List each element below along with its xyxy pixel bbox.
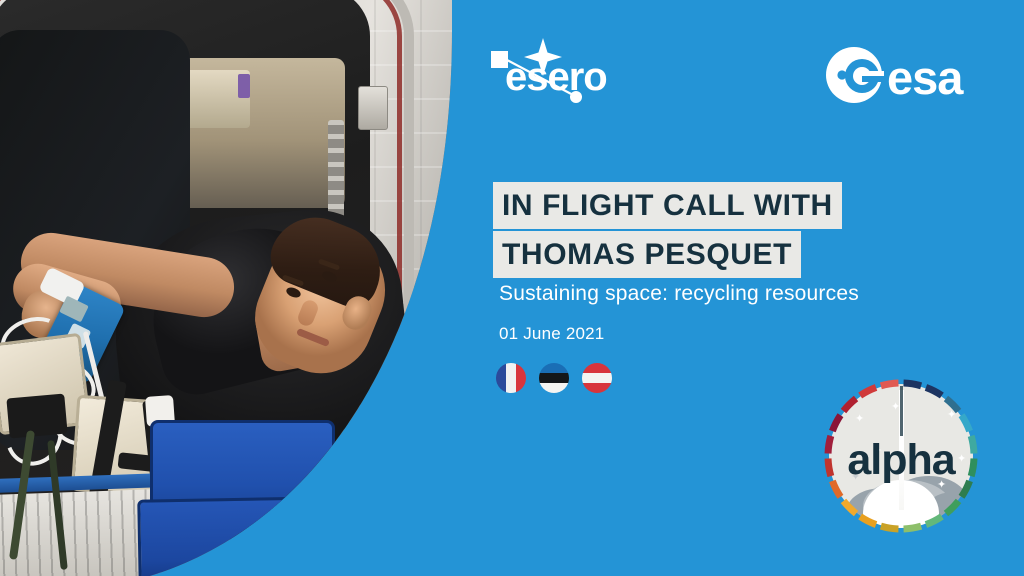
title-line-1-row: IN FLIGHT CALL WITH: [493, 182, 842, 229]
title-line-2: THOMAS PESQUET: [493, 231, 801, 278]
flag-austria: [582, 363, 612, 393]
patch-disc: alpha ✦ ✦ ✦ ✦ ✦ ✦ ✦ ✦: [829, 384, 973, 528]
astronaut-photo: [0, 0, 452, 576]
title-line-2-row: THOMAS PESQUET: [493, 231, 842, 278]
esa-wordmark: esa: [887, 51, 964, 104]
photo-clip: [0, 0, 452, 576]
blue-seat-cushion: [137, 496, 334, 576]
esa-logo[interactable]: esa: [825, 46, 985, 104]
presentation-slide: esero esa IN F: [0, 0, 1024, 576]
photo-panel: [0, 0, 452, 576]
hatch-latch: [358, 86, 388, 130]
esero-logo[interactable]: esero: [489, 38, 639, 104]
esero-wordmark: esero: [505, 55, 607, 99]
flag-list: [496, 363, 612, 393]
flag-estonia: [539, 363, 569, 393]
subtitle: Sustaining space: recycling resources: [499, 282, 859, 306]
patch-wordmark: alpha: [829, 436, 973, 485]
esa-emblem-icon: [825, 46, 889, 104]
dark-equipment: [6, 394, 67, 439]
flag-france: [496, 363, 526, 393]
title-line-1: IN FLIGHT CALL WITH: [493, 182, 842, 229]
patch-rocket-tip: [900, 386, 903, 436]
event-date: 01 June 2021: [499, 324, 604, 344]
alpha-mission-patch[interactable]: alpha ✦ ✦ ✦ ✦ ✦ ✦ ✦ ✦: [822, 377, 980, 535]
page-title: IN FLIGHT CALL WITH THOMAS PESQUET: [493, 182, 842, 280]
